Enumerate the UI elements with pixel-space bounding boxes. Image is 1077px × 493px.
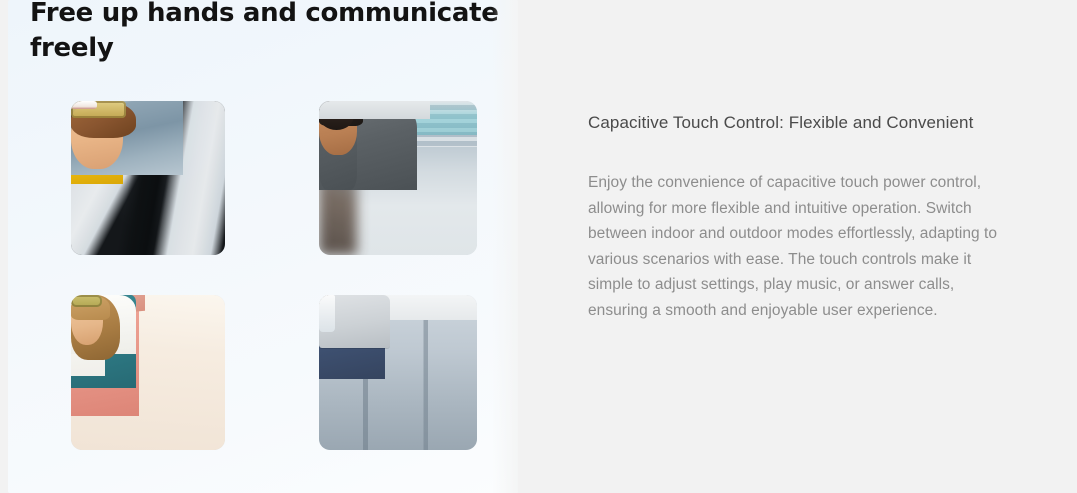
- tinted-sunglasses-icon: [71, 295, 102, 307]
- feature-title: Capacitive Touch Control: Flexible and C…: [588, 111, 1018, 135]
- water-glass-right: [319, 295, 335, 332]
- photo-man-driving-car[interactable]: [71, 101, 225, 255]
- photo-couple-outdoors[interactable]: [71, 295, 225, 450]
- photo-gallery-grid: [31, 85, 517, 466]
- photo-team-laptop[interactable]: [319, 295, 477, 450]
- smile: [71, 101, 97, 109]
- photo-man-waving-office[interactable]: [319, 101, 477, 255]
- product-feature-page: Free up hands and communicate freely: [0, 0, 1077, 493]
- feature-description: Enjoy the convenience of capacitive touc…: [588, 170, 1016, 324]
- right-description-panel: Capacitive Touch Control: Flexible and C…: [588, 0, 1028, 493]
- desk-surface: [319, 101, 430, 119]
- left-feature-card: Free up hands and communicate freely: [8, 0, 518, 493]
- page-title: Free up hands and communicate freely: [30, 0, 500, 66]
